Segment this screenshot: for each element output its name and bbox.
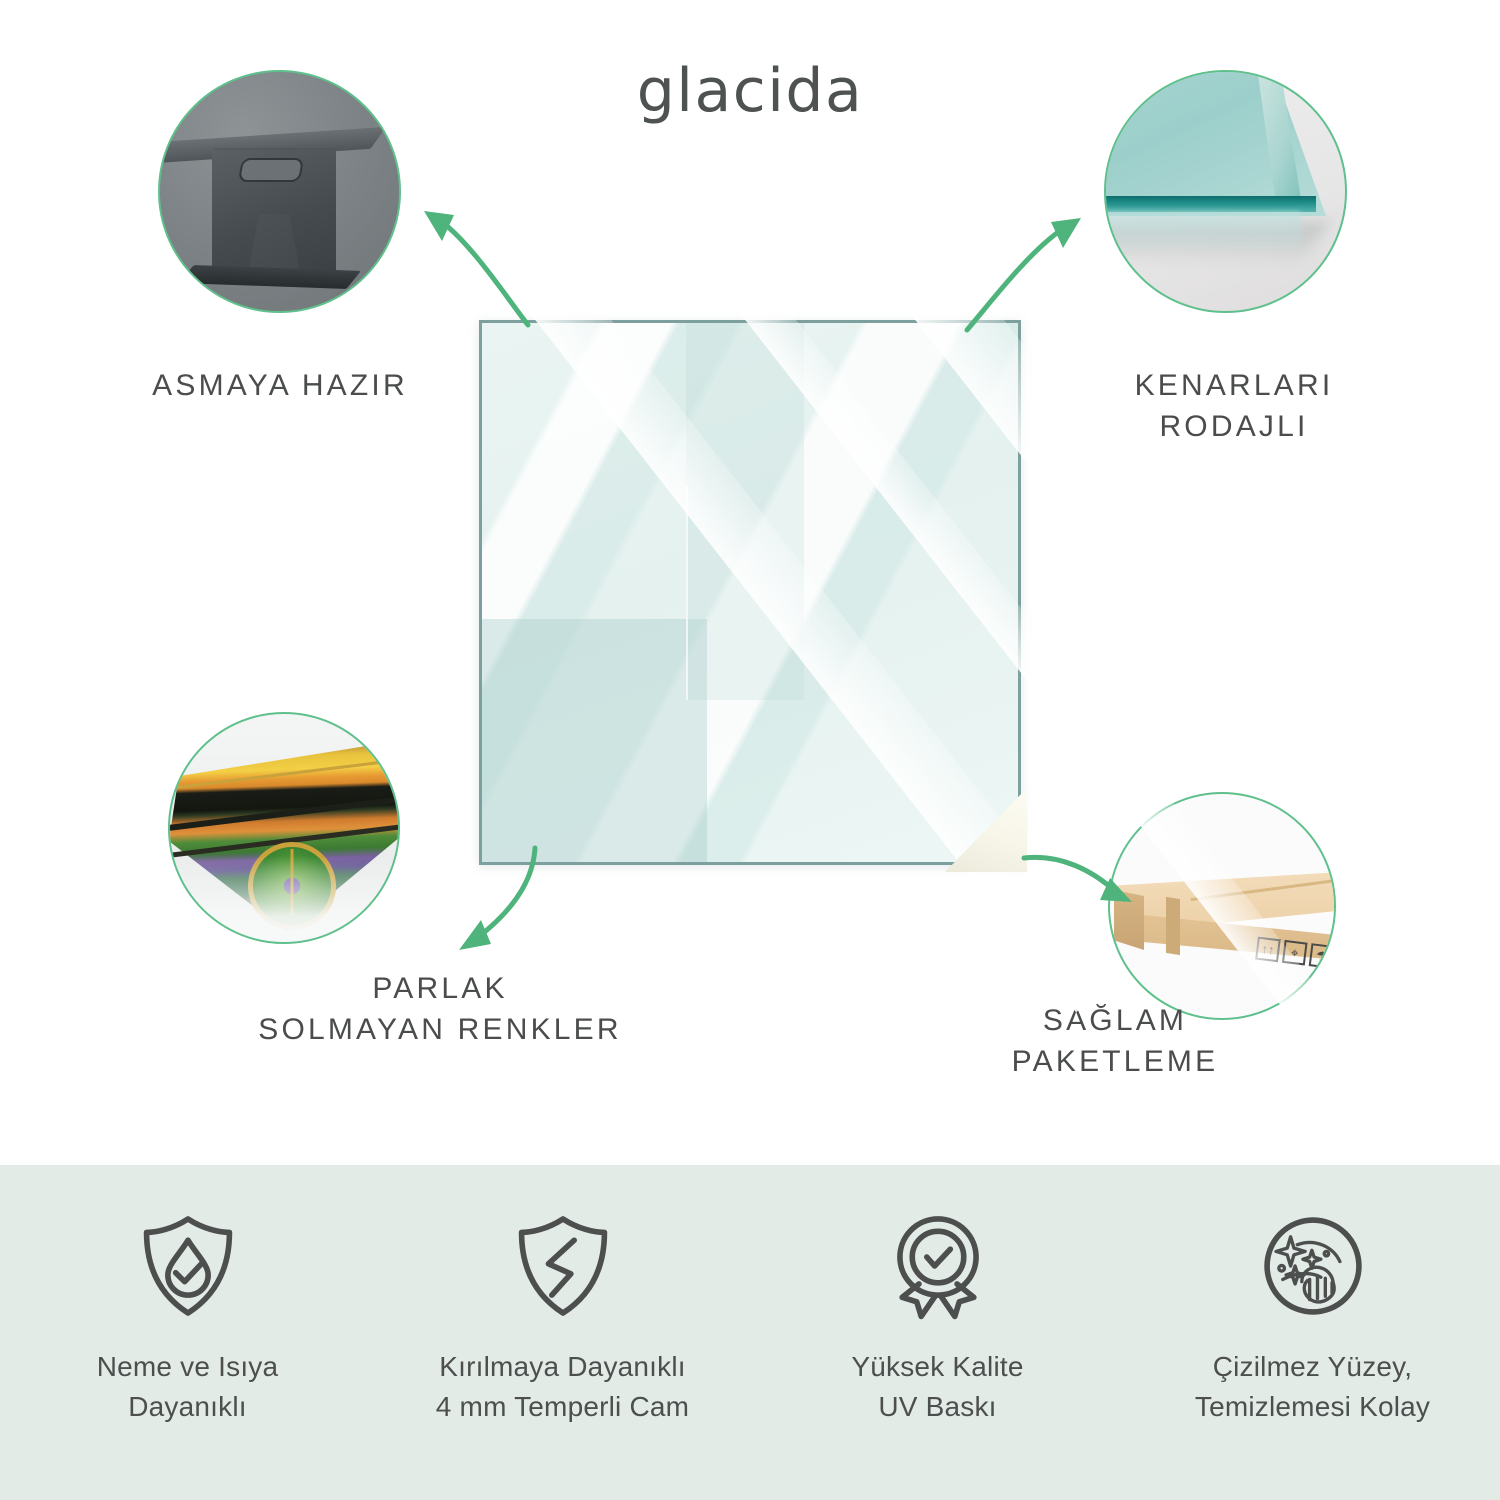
feature-label: Yüksek Kalite UV Baskı [851,1347,1023,1427]
feature-strip: Neme ve Isıya Dayanıklı Kırılmaya Dayanı… [0,1165,1500,1500]
feature-item: Çizilmez Yüzey, Temizlemesi Kolay [1125,1165,1500,1500]
wall-mount-bracket-photo [158,70,401,313]
feature-label: Neme ve Isıya Dayanıklı [97,1347,279,1427]
callout-label-edge: KENARLARI RODAJLI [1034,365,1434,448]
feature-item: Yüksek Kalite UV Baskı [750,1165,1125,1500]
polished-glass-edge-photo [1104,70,1347,313]
glass-polished-edge-band [1104,196,1316,212]
cardboard-box-photo: ↑↑ ⌖ ☂ [1108,792,1336,1020]
feature-label: Çizilmez Yüzey, Temizlemesi Kolay [1195,1347,1430,1427]
sparkle-hand-wipe-icon [1254,1207,1372,1325]
feature-label: Kırılmaya Dayanıklı 4 mm Temperli Cam [436,1347,689,1427]
callout-label-colors: PARLAK SOLMAYAN RENKLER [230,968,650,1051]
feature-item: Kırılmaya Dayanıklı 4 mm Temperli Cam [375,1165,750,1500]
fragile-glass-icon: ⌖ [1282,940,1308,966]
feature-item: Neme ve Isıya Dayanıklı [0,1165,375,1500]
stained-glass-print-photo [168,712,400,944]
curved-arrow-down-left [425,840,575,960]
callout-label-mount: ASMAYA HAZIR [80,365,480,406]
shield-lightning-bolt-icon [504,1207,622,1325]
keep-dry-umbrella-icon: ☂ [1309,943,1335,969]
award-ribbon-check-icon [879,1207,997,1325]
glass-reflection [1104,212,1301,254]
photo-bottom-fade [170,856,398,942]
glass-reflection-block [482,619,707,862]
glass-reflection-mullion [686,485,688,701]
tempered-glass-panel [479,320,1021,865]
glass-reflection-column [686,323,804,700]
this-side-up-icon: ↑↑ [1255,937,1281,963]
curved-arrow-down-right [1020,840,1140,920]
curved-arrow-up-right [895,190,1095,355]
curved-arrow-up-left [410,185,610,350]
box-seam [1166,897,1180,955]
bracket-keyhole-slot [238,158,304,182]
callout-label-pack: SAĞLAM PAKETLEME [925,1000,1305,1083]
shield-water-drop-check-icon [129,1207,247,1325]
